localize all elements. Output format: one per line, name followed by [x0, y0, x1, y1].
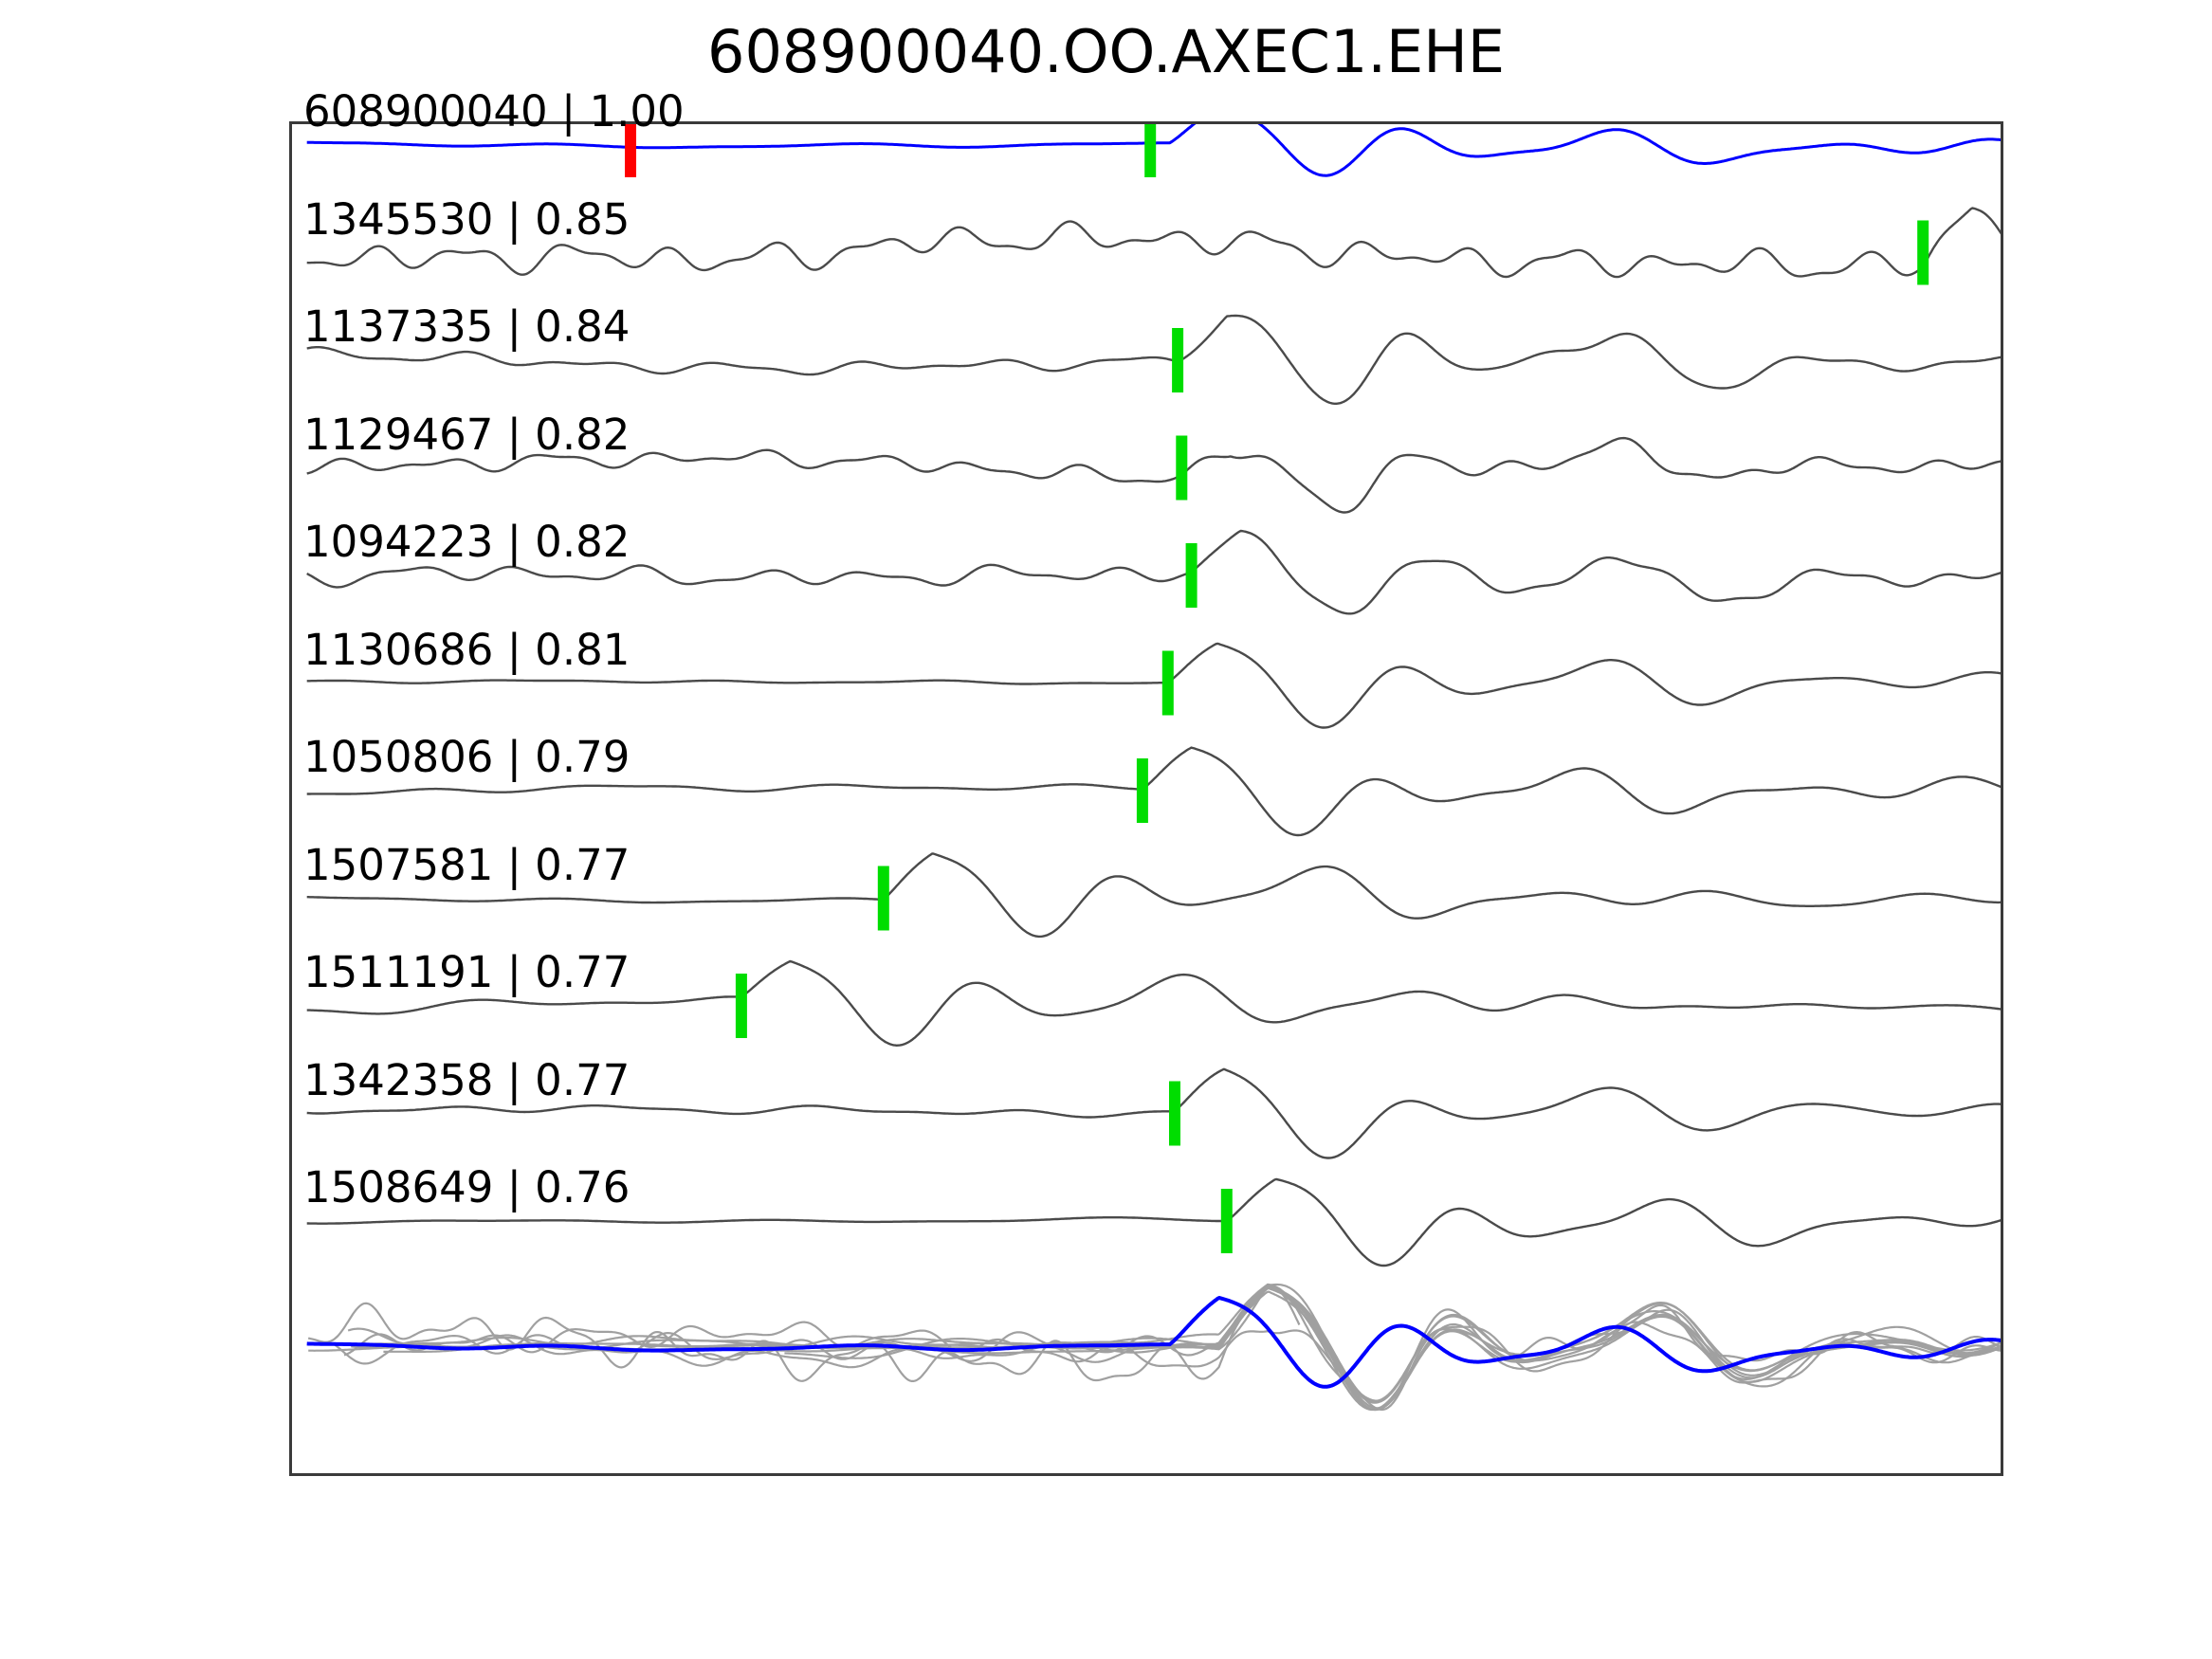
waveform-trace-1137335 — [307, 316, 2001, 404]
pick-marker-1137335 — [1172, 328, 1183, 392]
waveform-plot — [292, 124, 2001, 1473]
waveform-trace-1094223 — [307, 531, 2001, 613]
stack-overlay-panel — [307, 1285, 2001, 1410]
waveform-trace-1342358 — [307, 1069, 2001, 1158]
pick-marker-1129467 — [1176, 436, 1187, 501]
stack-overlay-trace — [308, 1285, 1299, 1381]
waveform-trace-1050806 — [307, 748, 2001, 835]
pick-marker-1507581 — [878, 866, 889, 931]
plot-axes-frame — [289, 121, 2003, 1476]
secondary-pick-marker-608900040 — [1144, 124, 1156, 177]
pick-marker-1130686 — [1162, 651, 1174, 716]
pick-marker-608900040 — [625, 124, 636, 177]
waveform-trace-1508649 — [307, 1179, 2001, 1266]
pick-marker-1342358 — [1169, 1082, 1180, 1146]
figure-canvas: 608900040.OO.AXEC1.EHE 608900040 | 1.001… — [0, 0, 2212, 1659]
waveform-trace-1129467 — [307, 438, 2001, 512]
waveform-trace-1345530 — [307, 209, 2001, 278]
pick-marker-1094223 — [1186, 543, 1197, 608]
waveform-trace-1511191 — [307, 961, 2001, 1046]
waveform-trace-1507581 — [307, 854, 2001, 937]
pick-marker-1511191 — [736, 974, 747, 1038]
pick-marker-1050806 — [1137, 758, 1148, 823]
pick-marker-1345530 — [1917, 221, 1929, 285]
page-title: 608900040.OO.AXEC1.EHE — [0, 17, 2212, 86]
pick-marker-1508649 — [1221, 1189, 1233, 1253]
waveform-trace-1130686 — [307, 644, 2001, 728]
